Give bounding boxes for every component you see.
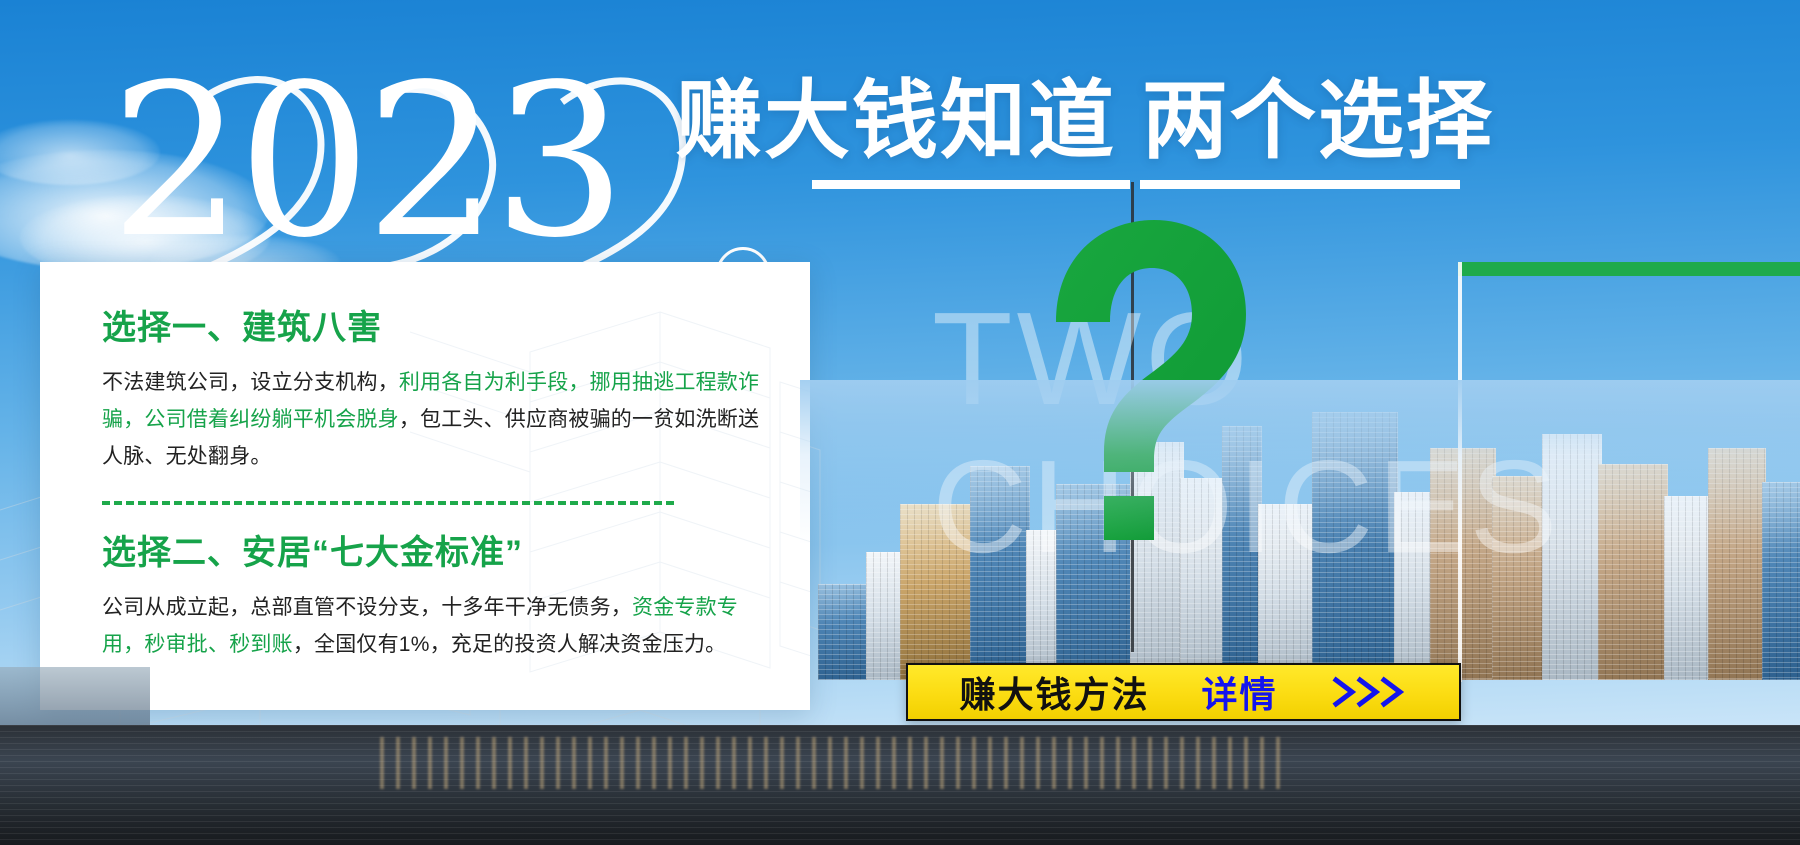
right-frame-border [1458,262,1462,682]
water-ripple-texture [0,725,1800,845]
headline-rule-right [1140,180,1460,189]
promo-banner: 2023 年 赚大钱知道 两个选择 TWO CHOICES [0,0,1800,845]
section-divider [102,501,674,505]
year-graphic: 2023 年 [110,62,730,262]
cta-link-label: 详情 [1202,666,1278,718]
page-title: 赚大钱知道 两个选择 [676,78,1494,164]
body-run-plain: 不法建筑公司，设立分支机构， [102,371,399,394]
cta-button[interactable]: 赚大钱方法 详情 [906,663,1461,721]
vertical-divider-line [1131,182,1134,652]
year-number: 2023 [110,62,730,262]
content-card: 选择一、建筑八害 不法建筑公司，设立分支机构，利用各自为利手段，挪用抽逃工程款诈… [40,262,810,710]
right-accent-bar [1458,262,1800,276]
cityscape-photo [800,380,1800,680]
bridge-decoration [0,667,150,727]
section-body: 不法建筑公司，设立分支机构，利用各自为利手段，挪用抽逃工程款诈骗，公司借着纠纷躺… [102,364,768,475]
section-title: 选择二、安居“七大金标准” [102,533,772,573]
triple-chevron-right-icon [1330,675,1408,709]
section-title: 选择一、建筑八害 [102,308,772,348]
cta-label: 赚大钱方法 [959,666,1149,718]
section-body: 公司从成立起，总部直管不设分支，十多年干净无债务，资金专款专用，秒审批、秒到账，… [102,589,768,663]
choice-section-two: 选择二、安居“七大金标准” 公司从成立起，总部直管不设分支，十多年干净无债务，资… [102,533,772,663]
body-run-plain: 公司从成立起，总部直管不设分支，十多年干净无债务， [102,596,632,619]
headline-rule-left [812,180,1130,189]
body-run-plain-tail: ，全国仅有1%，充足的投资人解决资金压力。 [293,633,727,656]
choice-section-one: 选择一、建筑八害 不法建筑公司，设立分支机构，利用各自为利手段，挪用抽逃工程款诈… [102,308,772,475]
waterline-strip [0,725,1800,845]
